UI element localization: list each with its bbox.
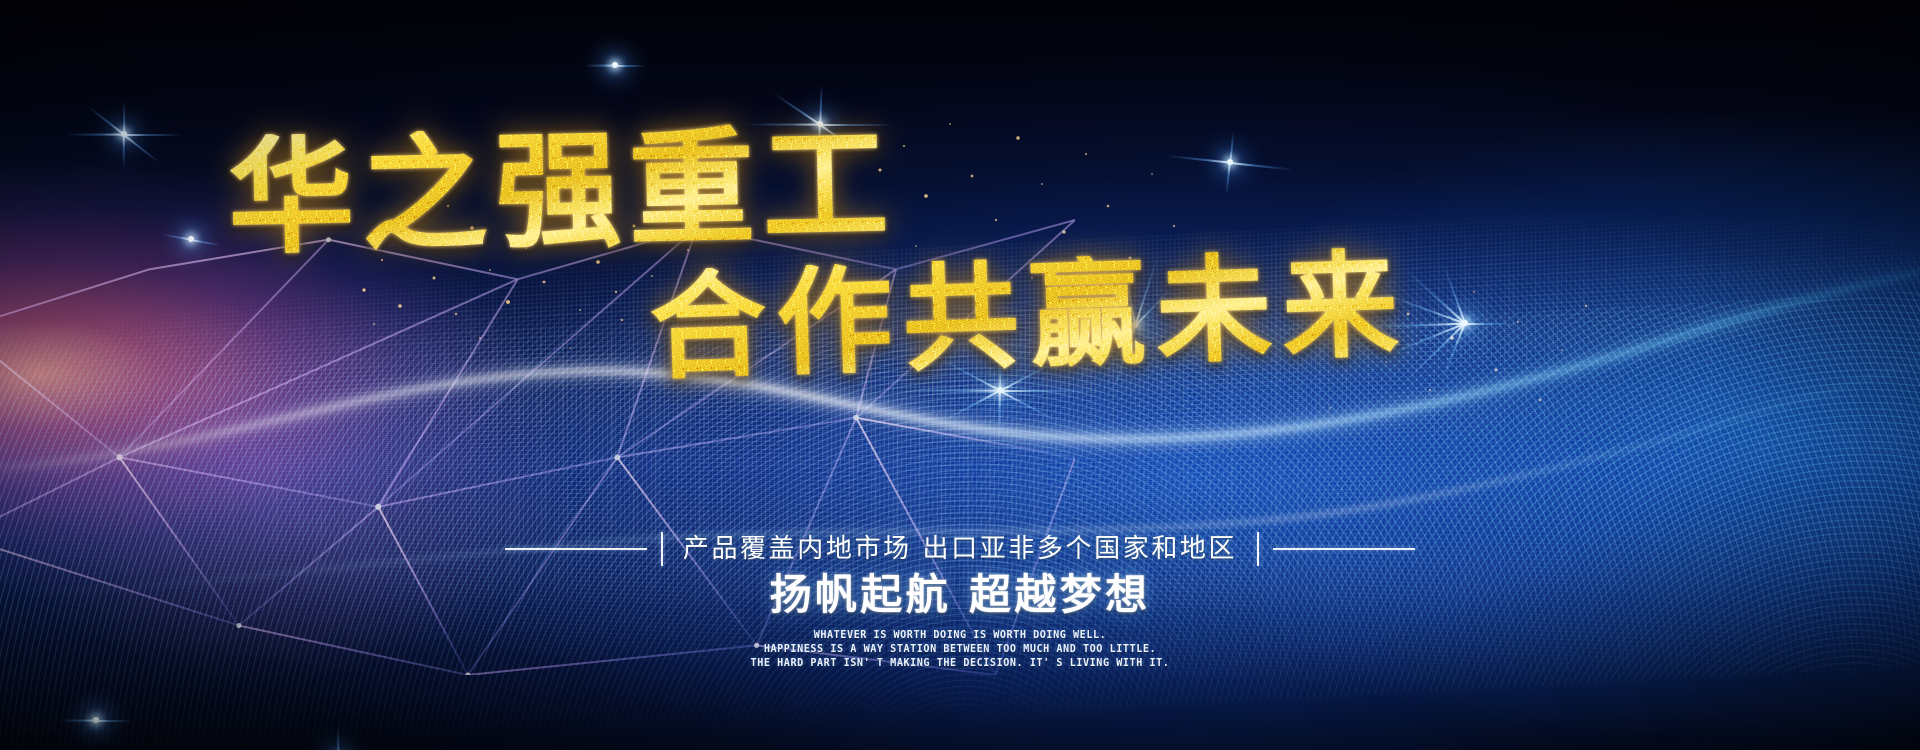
- rule-left-line: [505, 548, 647, 550]
- subtitle-text: 产品覆盖内地市场 出口亚非多个国家和地区: [663, 536, 1257, 562]
- headline-line-2: 合作共赢未来: [648, 246, 1410, 386]
- motto-line-1: WHATEVER IS WORTH DOING IS WORTH DOING W…: [77, 628, 1843, 642]
- subtitle-band: 产品覆盖内地市场 出口亚非多个国家和地区: [0, 532, 1920, 566]
- banner-content: 华之强重工 合作共赢未来 产品覆盖内地市场 出口亚非多个国家和地区 扬帆起航 超…: [0, 0, 1920, 750]
- slogan-text: 扬帆起航 超越梦想: [0, 572, 1920, 618]
- motto-line-3: THE HARD PART ISN' T MAKING THE DECISION…: [77, 656, 1843, 670]
- headline-block: 华之强重工 合作共赢未来: [0, 108, 1920, 388]
- rule-right-line: [1273, 548, 1415, 550]
- motto-block: WHATEVER IS WORTH DOING IS WORTH DOING W…: [0, 628, 1920, 670]
- motto-line-2: HAPPINESS IS A WAY STATION BETWEEN TOO M…: [77, 642, 1843, 656]
- banner-canvas: 华之强重工 合作共赢未来 产品覆盖内地市场 出口亚非多个国家和地区 扬帆起航 超…: [0, 0, 1920, 750]
- divider-right-bar: [1257, 532, 1259, 566]
- headline-line-1: 华之强重工: [227, 121, 897, 261]
